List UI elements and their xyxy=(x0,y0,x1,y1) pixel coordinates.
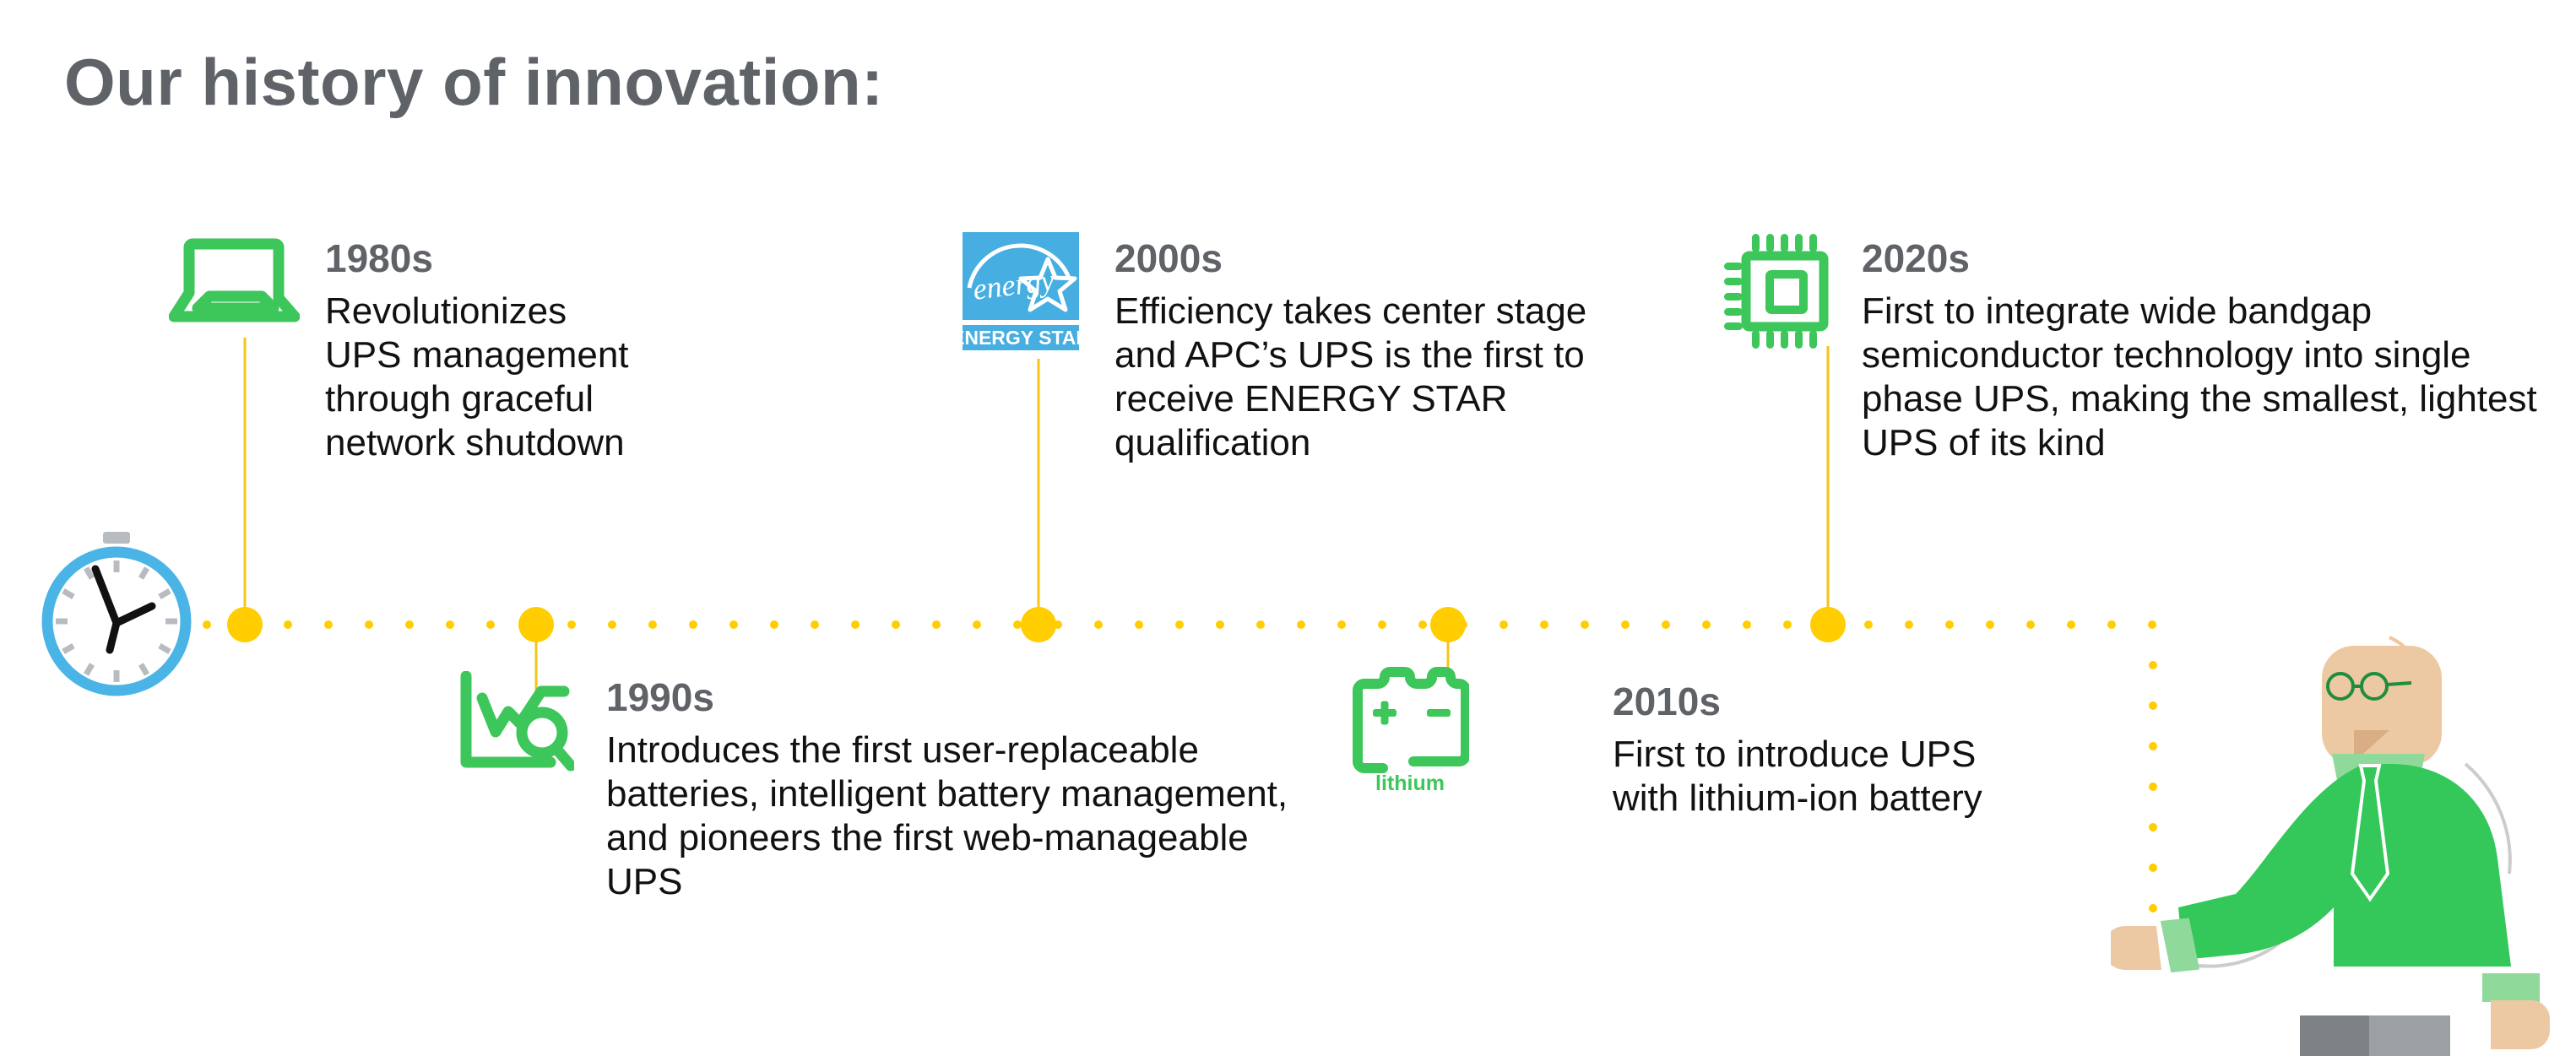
decade-description-2000s: Efficiency takes center stage and APC’s … xyxy=(1114,290,1604,465)
timeline-marker-2010s[interactable] xyxy=(1430,607,1466,642)
decade-description-1980s: Revolutionizes UPS management through gr… xyxy=(325,290,646,465)
timeline-dot xyxy=(1297,620,1305,629)
cpu-chip-icon xyxy=(1722,232,1830,355)
timeline-dot xyxy=(1986,620,1994,629)
timeline-dot xyxy=(567,620,576,629)
timeline-dot xyxy=(1662,620,1670,629)
timeline-dot xyxy=(1702,620,1711,629)
timeline-dot xyxy=(770,620,778,629)
decade-description-2020s: First to integrate wide bandgap semicond… xyxy=(1862,290,2537,465)
timeline-marker-2020s[interactable] xyxy=(1810,607,1846,642)
timeline-dot xyxy=(689,620,697,629)
infographic-canvas: Our history of innovation: xyxy=(0,0,2576,1056)
timeline-dot xyxy=(203,620,211,629)
timeline-dot xyxy=(1256,620,1265,629)
timeline-dot xyxy=(2107,620,2116,629)
decade-label-2000s: 2000s xyxy=(1114,239,1604,278)
timeline-dot xyxy=(365,620,373,629)
milestone-2010s-body: 2010s First to introduce UPS with lithiu… xyxy=(1613,682,1993,820)
connector-1980s xyxy=(244,338,247,620)
decade-label-2010s: 2010s xyxy=(1613,682,1993,721)
timeline-dot xyxy=(1094,620,1103,629)
timeline-dot xyxy=(973,620,981,629)
timeline-dot xyxy=(729,620,738,629)
timeline-dot xyxy=(1743,620,1751,629)
timeline-track xyxy=(203,620,2161,629)
timeline-dot xyxy=(1540,620,1548,629)
timeline-dot xyxy=(1945,620,1954,629)
timeline-dot xyxy=(608,620,616,629)
milestone-2000s-body: 2000s Efficiency takes center stage and … xyxy=(1114,239,1604,465)
timeline-dot xyxy=(892,620,900,629)
connector-2020s xyxy=(1827,346,1830,620)
decade-description-2010s: First to introduce UPS with lithium-ion … xyxy=(1613,733,1993,820)
timeline-marker-1990s[interactable] xyxy=(518,607,554,642)
timeline-marker-2000s[interactable] xyxy=(1021,607,1056,642)
energy-star-logo: energy ENERGY STAR xyxy=(963,232,1087,355)
timeline-dot xyxy=(324,620,333,629)
milestone-2020s-body: 2020s First to integrate wide bandgap se… xyxy=(1862,239,2537,465)
timeline-dot xyxy=(1135,620,1143,629)
milestone-1990s-body: 1990s Introduces the first user-replacea… xyxy=(606,678,1299,904)
timeline-dot xyxy=(1418,620,1427,629)
timeline-dot xyxy=(405,620,414,629)
decade-description-1990s: Introduces the first user-replaceable ba… xyxy=(606,728,1299,904)
timeline-dot xyxy=(1216,620,1224,629)
lithium-battery-icon: lithium xyxy=(1351,667,1469,798)
timeline-dot xyxy=(446,620,454,629)
timeline-marker-1980s[interactable] xyxy=(227,607,263,642)
businessman-character xyxy=(2111,629,2576,1056)
chart-magnifier-icon xyxy=(456,671,574,789)
laptop-icon xyxy=(169,232,300,338)
timeline-dot xyxy=(1864,620,1873,629)
decade-label-1980s: 1980s xyxy=(325,239,646,278)
timeline-dot xyxy=(1500,620,1508,629)
timeline-dot xyxy=(851,620,860,629)
connector-2000s xyxy=(1038,359,1040,620)
timeline-dot xyxy=(1175,620,1184,629)
lithium-caption: lithium xyxy=(1375,772,1445,793)
milestone-1980s-body: 1980s Revolutionizes UPS management thro… xyxy=(325,239,646,465)
timeline-dot xyxy=(2026,620,2035,629)
page-title: Our history of innovation: xyxy=(64,44,884,121)
timeline-dot xyxy=(1905,620,1913,629)
timeline-dot xyxy=(284,620,292,629)
decade-label-1990s: 1990s xyxy=(606,678,1299,717)
decade-label-2020s: 2020s xyxy=(1862,239,2537,278)
timeline-dot xyxy=(1378,620,1386,629)
timeline-dot xyxy=(648,620,657,629)
timeline-dot xyxy=(2067,620,2075,629)
timeline-dot xyxy=(486,620,495,629)
timeline-dot xyxy=(1621,620,1630,629)
energy-star-label: ENERGY STAR xyxy=(963,327,1087,349)
timeline-dot xyxy=(811,620,819,629)
timeline-dot xyxy=(1337,620,1346,629)
stopwatch-icon xyxy=(32,530,201,703)
timeline-dot xyxy=(1783,620,1792,629)
timeline-dot xyxy=(932,620,941,629)
timeline-dot xyxy=(1581,620,1589,629)
